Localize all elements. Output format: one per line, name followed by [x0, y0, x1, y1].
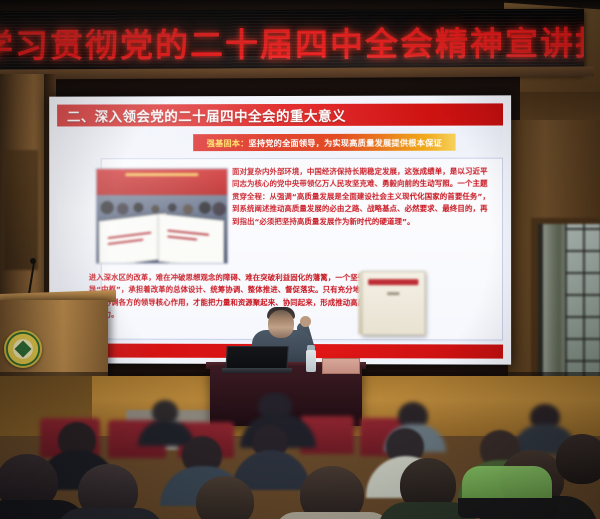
slide-paragraph-top: 面对复杂内外部环境，中国经济保持长期稳定发展，这张成绩单，是以习近平同志为核心的… — [232, 166, 495, 228]
school-emblem-icon — [4, 330, 42, 368]
lecture-hall-photo: 学习贯彻党的二十届四中全会精神宣讲报告会 二、深入领会党的二十届四中全会的重大意… — [0, 0, 600, 519]
speaker-hand — [300, 316, 311, 327]
audience-shoulders — [56, 508, 164, 519]
photo-book-right — [158, 214, 224, 264]
book-cover-title — [368, 279, 418, 285]
photo-backdrop-text — [125, 173, 198, 176]
slide-book-cover — [361, 271, 425, 335]
water-bottle — [306, 350, 316, 372]
slide-title: 二、深入领会党的二十届四中全会的重大意义 — [57, 103, 503, 126]
audience-shoulders — [274, 512, 392, 519]
slide-ribbon-banner: 强基固本：坚持党的全面领导，为实现高质量发展提供根本保证 — [193, 134, 455, 152]
ribbon-highlight: 强基固本： — [207, 137, 249, 149]
speaker-head — [268, 310, 294, 338]
laptop-base — [222, 368, 292, 373]
audience-jacket-trim — [458, 498, 558, 518]
photo-book-left — [99, 213, 167, 264]
audience-head — [556, 434, 600, 484]
slide-meeting-photo — [96, 168, 228, 264]
book-spine — [358, 272, 363, 334]
audience-area — [0, 392, 600, 519]
book-cover-subtitle — [387, 292, 399, 295]
speaker-nameplate — [322, 358, 360, 374]
audience-head — [196, 476, 254, 519]
microphone-icon — [30, 258, 36, 264]
ribbon-text: 坚持党的全面领导，为实现高质量发展提供根本保证 — [249, 136, 442, 148]
left-wall-panel — [4, 150, 38, 270]
